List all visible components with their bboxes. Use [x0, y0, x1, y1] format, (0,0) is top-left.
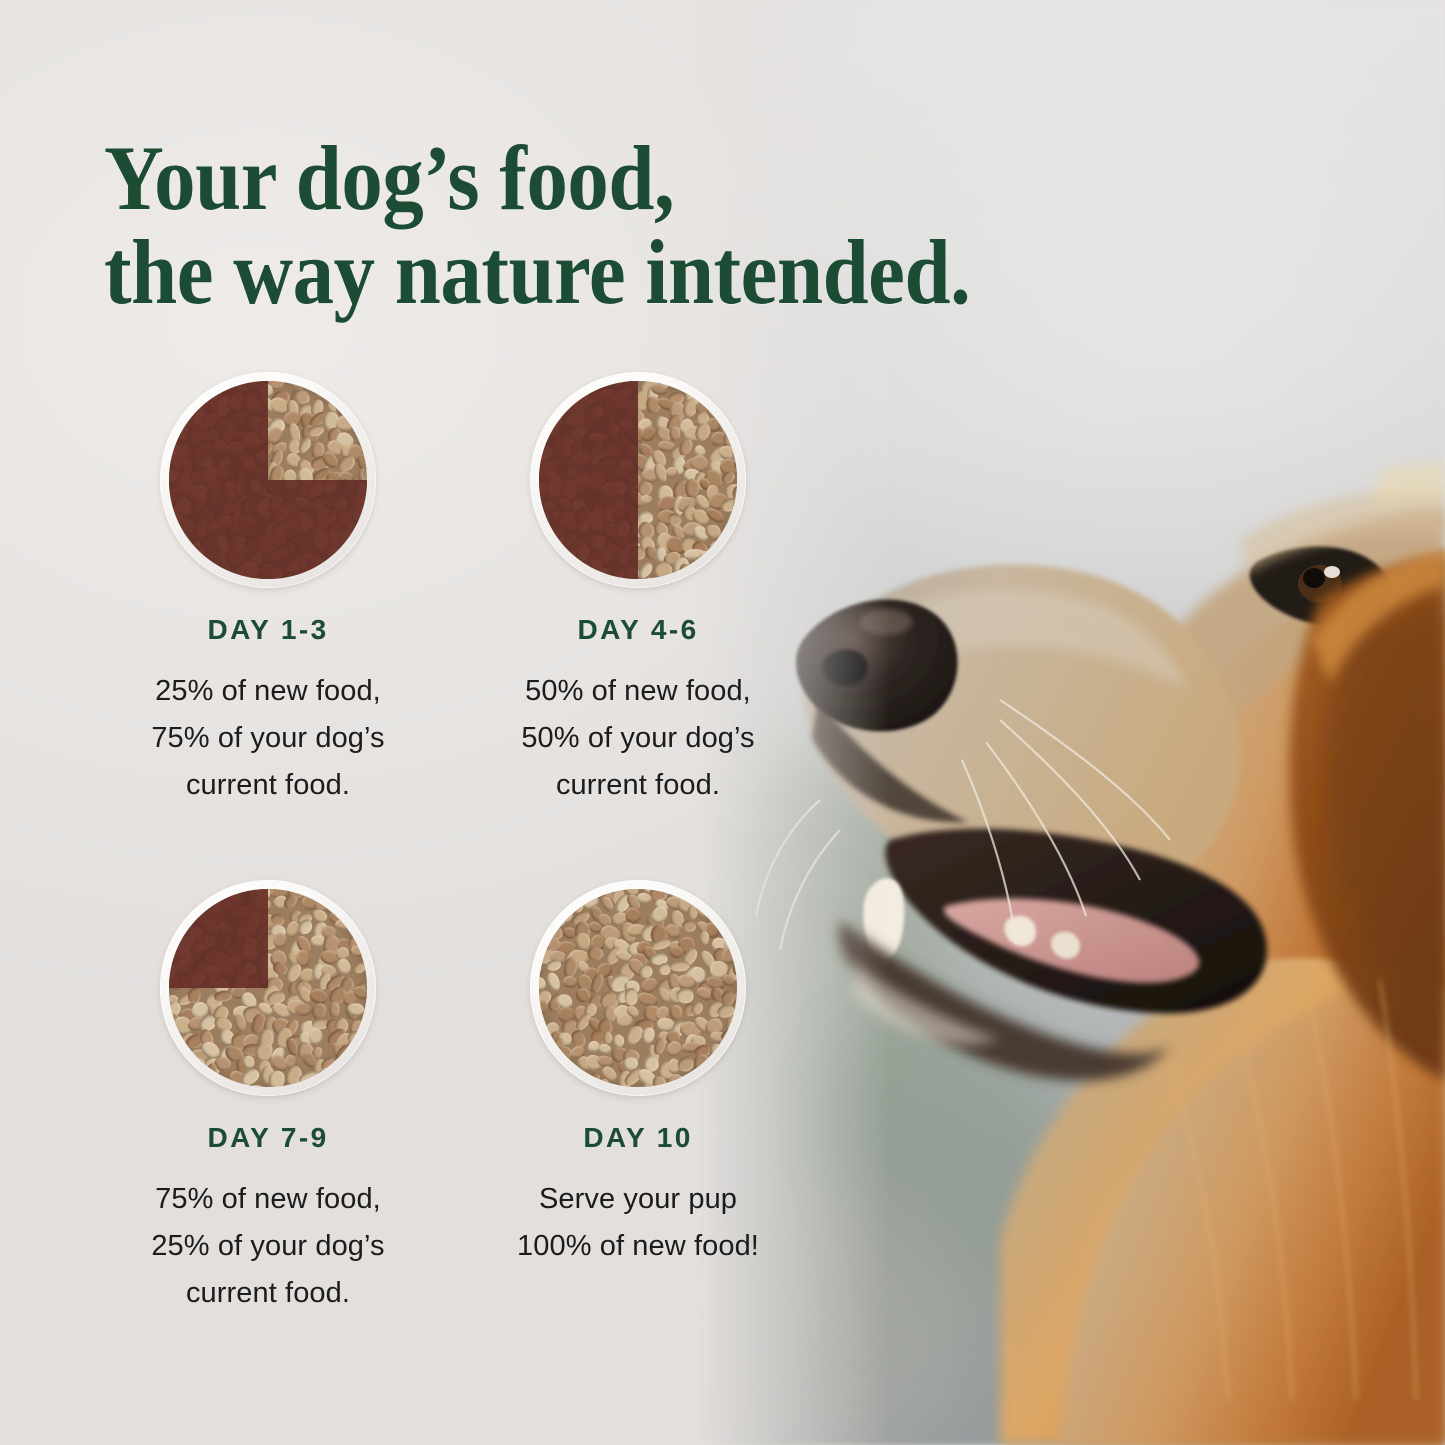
bowl-day-4-6: [530, 372, 746, 588]
step-day-4-6: DAY 4-6 50% of new food, 50% of your dog…: [458, 372, 818, 809]
day-label: DAY 4-6: [458, 614, 818, 646]
bowl-contents: [539, 381, 737, 579]
day-label: DAY 7-9: [88, 1122, 448, 1154]
bowl-contents: [539, 889, 737, 1087]
desc-line: 25% of your dog’s: [88, 1223, 448, 1270]
bowl-day-10: [530, 880, 746, 1096]
bowl-day-7-9: [160, 880, 376, 1096]
desc-line: 75% of your dog’s: [88, 715, 448, 762]
desc-line: 50% of your dog’s: [458, 715, 818, 762]
desc-line: 75% of new food,: [88, 1176, 448, 1223]
transition-schedule: DAY 1-3 25% of new food, 75% of your dog…: [0, 372, 840, 1380]
desc-line: Serve your pup: [458, 1176, 818, 1223]
step-day-7-9: DAY 7-9 75% of new food, 25% of your dog…: [88, 880, 448, 1317]
schedule-row-2: DAY 7-9 75% of new food, 25% of your dog…: [0, 880, 840, 1380]
step-day-1-3: DAY 1-3 25% of new food, 75% of your dog…: [88, 372, 448, 809]
desc-line: current food.: [88, 1270, 448, 1317]
headline-line-2: the way nature intended.: [104, 226, 986, 320]
step-description: Serve your pup 100% of new food!: [458, 1176, 818, 1270]
bowl-dish: [160, 372, 376, 588]
step-day-10: DAY 10 Serve your pup 100% of new food!: [458, 880, 818, 1270]
step-description: 75% of new food, 25% of your dog’s curre…: [88, 1176, 448, 1317]
bowl-dish: [530, 372, 746, 588]
bowl-contents: [169, 381, 367, 579]
step-description: 50% of new food, 50% of your dog’s curre…: [458, 668, 818, 809]
infographic-canvas: Your dog’s food, the way nature intended…: [0, 0, 1445, 1445]
desc-line: current food.: [88, 762, 448, 809]
bowl-contents: [169, 889, 367, 1087]
step-description: 25% of new food, 75% of your dog’s curre…: [88, 668, 448, 809]
bowl-dish: [530, 880, 746, 1096]
kibble-texture: [539, 889, 737, 1087]
page-title: Your dog’s food, the way nature intended…: [104, 132, 986, 320]
desc-line: current food.: [458, 762, 818, 809]
desc-line: 50% of new food,: [458, 668, 818, 715]
desc-line: 100% of new food!: [458, 1223, 818, 1270]
bowl-day-1-3: [160, 372, 376, 588]
day-label: DAY 1-3: [88, 614, 448, 646]
schedule-row-1: DAY 1-3 25% of new food, 75% of your dog…: [0, 372, 840, 872]
day-label: DAY 10: [458, 1122, 818, 1154]
bowl-dish: [160, 880, 376, 1096]
desc-line: 25% of new food,: [88, 668, 448, 715]
headline-line-1: Your dog’s food,: [104, 127, 674, 229]
